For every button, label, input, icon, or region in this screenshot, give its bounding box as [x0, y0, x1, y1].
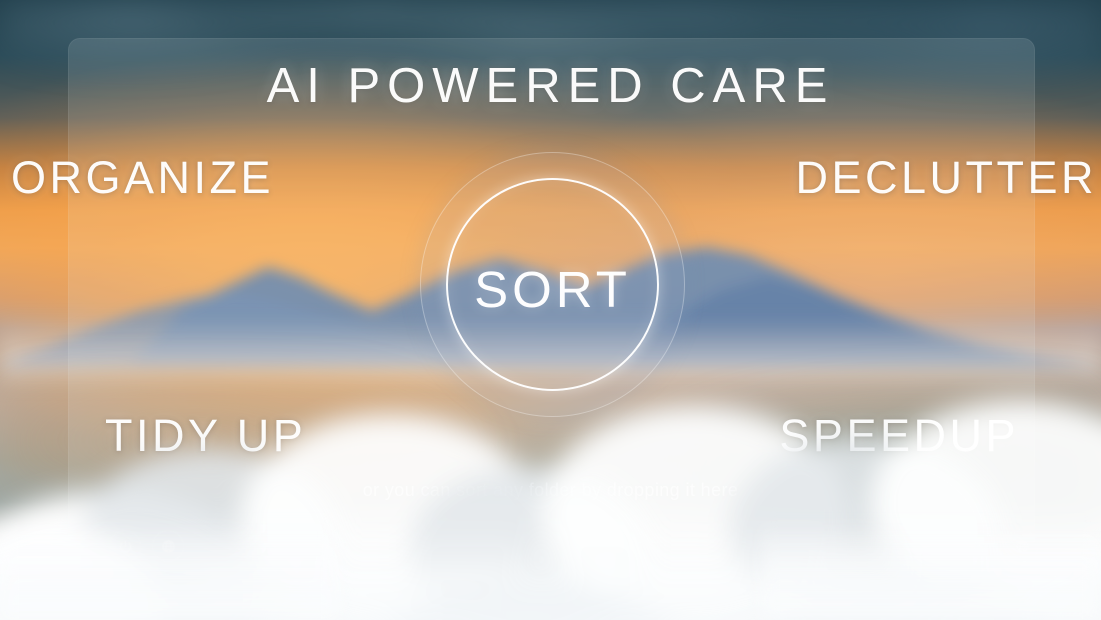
sort-button-label: SORT — [420, 260, 685, 319]
globe-icon[interactable] — [1006, 530, 1038, 562]
power-icon[interactable] — [109, 530, 141, 562]
globe-icon[interactable] — [152, 530, 184, 562]
action-label-organize[interactable]: ORGANIZE — [11, 152, 274, 204]
lower-cloud-bank — [0, 370, 1101, 620]
action-label-declutter[interactable]: DECLUTTER — [795, 152, 1097, 204]
power-icon[interactable] — [963, 530, 995, 562]
page-title: AI POWERED CARE — [0, 58, 1101, 114]
app-window: AI POWERED CARE ORGANIZE DECLUTTER TIDY … — [0, 0, 1101, 620]
